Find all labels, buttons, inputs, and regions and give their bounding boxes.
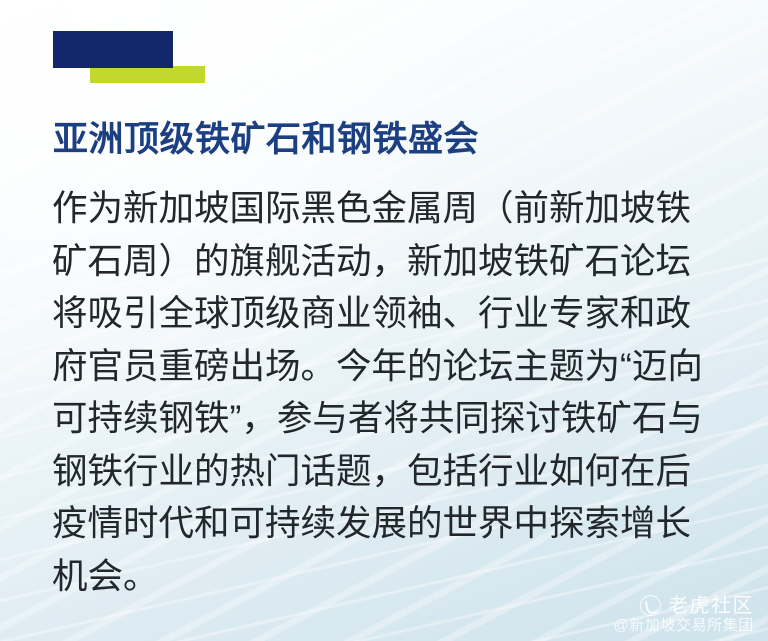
body-line: 疫情时代和可持续发展的世界中探索增长 [52,497,742,550]
page-title: 亚洲顶级铁矿石和钢铁盛会 [53,121,479,160]
body-line: 矿石周）的旗舰活动，新加坡铁矿石论坛 [52,235,742,288]
body-line: 作为新加坡国际黑色金属周（前新加坡铁 [52,182,742,235]
body-line: 可持续钢铁”，参与者将共同探讨铁矿石与 [52,392,742,445]
body-paragraph: 作为新加坡国际黑色金属周（前新加坡铁 矿石周）的旗舰活动，新加坡铁矿石论坛 将吸… [52,182,742,602]
decorative-blocks [53,31,213,87]
decorative-navy-block [53,31,173,68]
body-line: 机会。 [52,550,742,603]
decorative-green-block [90,66,205,83]
body-line: 将吸引全球顶级商业领袖、行业专家和政 [52,287,742,340]
slide-canvas: 亚洲顶级铁矿石和钢铁盛会 作为新加坡国际黑色金属周（前新加坡铁 矿石周）的旗舰活… [0,0,768,641]
body-line: 府官员重磅出场。今年的论坛主题为“迈向 [52,340,742,393]
body-line: 钢铁行业的热门话题，包括行业如何在后 [52,445,742,498]
watermark-handle-label: @新加坡交易所集团 [613,618,754,633]
